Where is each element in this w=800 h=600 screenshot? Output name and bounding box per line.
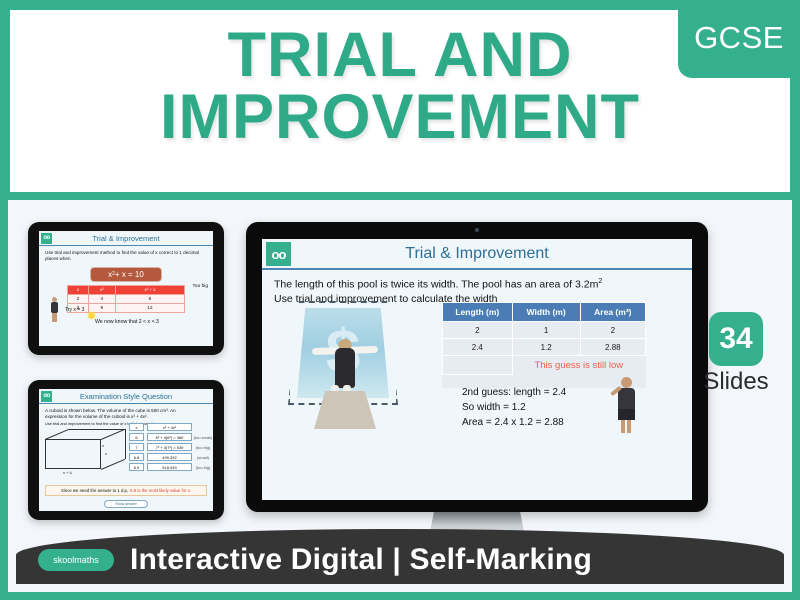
calc-value: 7³ + 4(7²) = 539 (147, 443, 192, 451)
col-length: Length (m) (443, 303, 513, 322)
prompt-line-1: The length of this pool is twice its wid… (274, 279, 598, 291)
slide-count-number: 34 (709, 312, 763, 366)
calc-row: 6.8 499.392 (small) (129, 453, 213, 461)
try-value-annotation: Try x = 3 (65, 307, 84, 313)
monitor-preview[interactable]: oo Trial & Improvement The length of thi… (246, 222, 708, 512)
table-row: 2 4 6 (68, 294, 185, 303)
calc-value: 518.049 (147, 463, 192, 471)
cuboid-diagram: x + 4 x x (45, 429, 125, 475)
col-x: x (68, 285, 89, 294)
slide-title: Trial & Improvement (262, 245, 692, 263)
skoolmaths-owl-icon: oo (41, 233, 52, 244)
diver-figure (318, 335, 372, 395)
slide-count-badge: 34 Slides (702, 312, 770, 396)
skoolmaths-owl-icon: oo (41, 391, 52, 402)
teacher-avatar-small (48, 297, 61, 323)
calc-value: 6³ + 4(6²) = 360 (147, 433, 192, 441)
table-row: 2 1 2 (443, 322, 646, 339)
col-area: Area (m³) (580, 303, 645, 322)
calc-note: (small) (192, 455, 213, 460)
tablet-top-instruction: Use trial and improvement method to find… (39, 246, 213, 263)
tablet-bottom-screen: oo Examination Style Question A cuboid i… (39, 389, 213, 511)
tablet-preview-top[interactable]: oo Trial & Improvement Use trial and imp… (28, 222, 224, 355)
monitor-screen: oo Trial & Improvement The length of thi… (262, 239, 692, 500)
footer-banner: skoolmaths Interactive Digital | Self-Ma… (16, 529, 784, 584)
cell: 6 (115, 294, 184, 303)
title-line-2: IMPROVEMENT (50, 86, 750, 148)
page-title: TRIAL AND IMPROVEMENT (10, 24, 790, 149)
col-x-squared-plus-x: x² + x (115, 285, 184, 294)
pool-illustration: $ (284, 299, 406, 431)
cell: 12 (115, 303, 184, 312)
tablet-bottom-title: Examination Style Question (39, 392, 213, 401)
col-x-squared: x² (88, 285, 115, 294)
title-line-1: TRIAL AND (50, 24, 750, 86)
cell: 2 (443, 322, 513, 339)
calc-x: 7 (129, 443, 144, 451)
cell: 2 (580, 322, 645, 339)
skoolmaths-owl-icon: oo (266, 242, 291, 266)
calc-header-expr: x³ + 4x² (147, 423, 192, 431)
table-row: 2.4 1.2 2.88 (443, 339, 646, 356)
calc-x: 6 (129, 433, 144, 441)
webcam-icon (475, 228, 479, 232)
cuboid-depth-label: x (105, 451, 107, 456)
calc-note: (too big) (192, 445, 213, 450)
cell: 2.4 (443, 339, 513, 356)
show-answer-button[interactable]: Show answer (104, 500, 148, 508)
tablet-top-title: Trial & Improvement (39, 234, 213, 243)
answer-callout: Since we need the answer to 1 d.p, 6.8 i… (45, 485, 207, 496)
calc-x: 6.9 (129, 463, 144, 471)
cell: 2.88 (580, 339, 645, 356)
cell: 2 (68, 294, 89, 303)
title-card: TRIAL AND IMPROVEMENT GCSE (8, 8, 792, 194)
trial-table: x x² x² + x 2 4 6 3 9 (67, 285, 185, 313)
gcse-level-badge: GCSE (678, 2, 800, 78)
calc-row: 6 6³ + 4(6²) = 360 (too small) (129, 433, 213, 441)
preview-area: oo Trial & Improvement Use trial and imp… (8, 200, 792, 592)
calc-value: 499.392 (147, 453, 192, 461)
table-row: 3 9 12 (68, 303, 185, 312)
slide-header: oo Trial & Improvement (262, 239, 692, 270)
skoolmaths-logo: skoolmaths (38, 549, 114, 571)
table-row-note: This guess is still low (443, 356, 646, 375)
calc-header-row: x x³ + 4x² (129, 423, 213, 431)
cell: 1.2 (512, 339, 580, 356)
answer-prefix: Since we need the answer to 1 d.p, (61, 488, 128, 493)
table-header-row: x x² x² + x (68, 285, 185, 294)
cell: 4 (88, 294, 115, 303)
calc-note: (too big) (192, 465, 213, 470)
cell-empty (443, 356, 513, 375)
pool-trial-table: Length (m) Width (m) Area (m³) 2 1 2 2.4 (442, 302, 646, 388)
conclusion-annotation: We now know that 2 < x < 3 (95, 319, 159, 325)
equation-rest: + x = 10 (115, 270, 144, 279)
calc-x: 6.8 (129, 453, 144, 461)
calc-row: 7 7³ + 4(7²) = 539 (too big) (129, 443, 213, 451)
cell: 1 (512, 322, 580, 339)
calc-note: (too small) (192, 435, 213, 440)
calc-row: 6.9 518.049 (too big) (129, 463, 213, 471)
tablet-top-screen: oo Trial & Improvement Use trial and imp… (39, 231, 213, 346)
working-line-3: Area = 2.4 x 1.2 = 2.88 (462, 415, 566, 430)
working-line-1: 2nd guess: length = 2.4 (462, 385, 566, 400)
gcse-label: GCSE (694, 20, 784, 56)
tablet-preview-bottom[interactable]: oo Examination Style Question A cuboid i… (28, 380, 224, 520)
equation-box: x2 + x = 10 (90, 267, 162, 282)
footer-tagline: Interactive Digital | Self-Marking (130, 543, 592, 577)
guess-note: This guess is still low (512, 356, 645, 375)
poster-root: TRIAL AND IMPROVEMENT GCSE oo Trial & Im… (0, 0, 800, 600)
cuboid-base-label: x + 4 (63, 470, 72, 475)
tablet-top-header: oo Trial & Improvement (39, 231, 213, 246)
prompt-superscript: 2 (598, 278, 602, 285)
too-big-annotation: Too big (193, 284, 208, 289)
tablet-bottom-header: oo Examination Style Question (39, 389, 213, 404)
answer-value: 6.8 is the most likely value for x. (130, 488, 191, 493)
col-width: Width (m) (512, 303, 580, 322)
slide-count-label: Slides (702, 368, 770, 396)
working-out-text: 2nd guess: length = 2.4 So width = 1.2 A… (462, 385, 566, 430)
trial-calculation-list: x x³ + 4x² 6 6³ + 4(6²) = 360 (too small… (129, 423, 213, 473)
cuboid-side-label: x (102, 443, 104, 448)
working-line-2: So width = 1.2 (462, 400, 566, 415)
calc-header-x: x (129, 423, 144, 431)
table-header-row: Length (m) Width (m) Area (m³) (443, 303, 646, 322)
teacher-avatar (612, 377, 642, 435)
